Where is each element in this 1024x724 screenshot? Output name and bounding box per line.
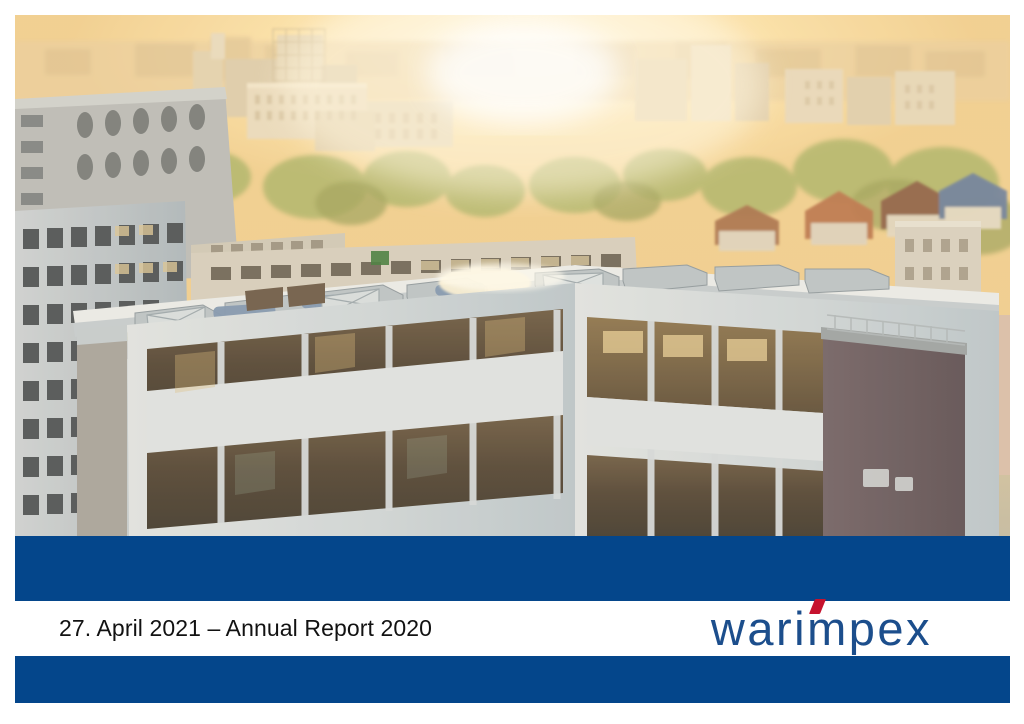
warimpex-logo: warimpex — [711, 605, 932, 652]
footer-band: 27. April 2021 – Annual Report 2020 wari… — [15, 601, 1010, 656]
blue-band-upper — [15, 536, 1010, 601]
presentation-slide: 27. April 2021 – Annual Report 2020 wari… — [0, 0, 1024, 724]
hero-image — [15, 15, 1010, 536]
blue-band-lower — [15, 656, 1010, 703]
slide-title: 27. April 2021 – Annual Report 2020 — [59, 617, 432, 640]
